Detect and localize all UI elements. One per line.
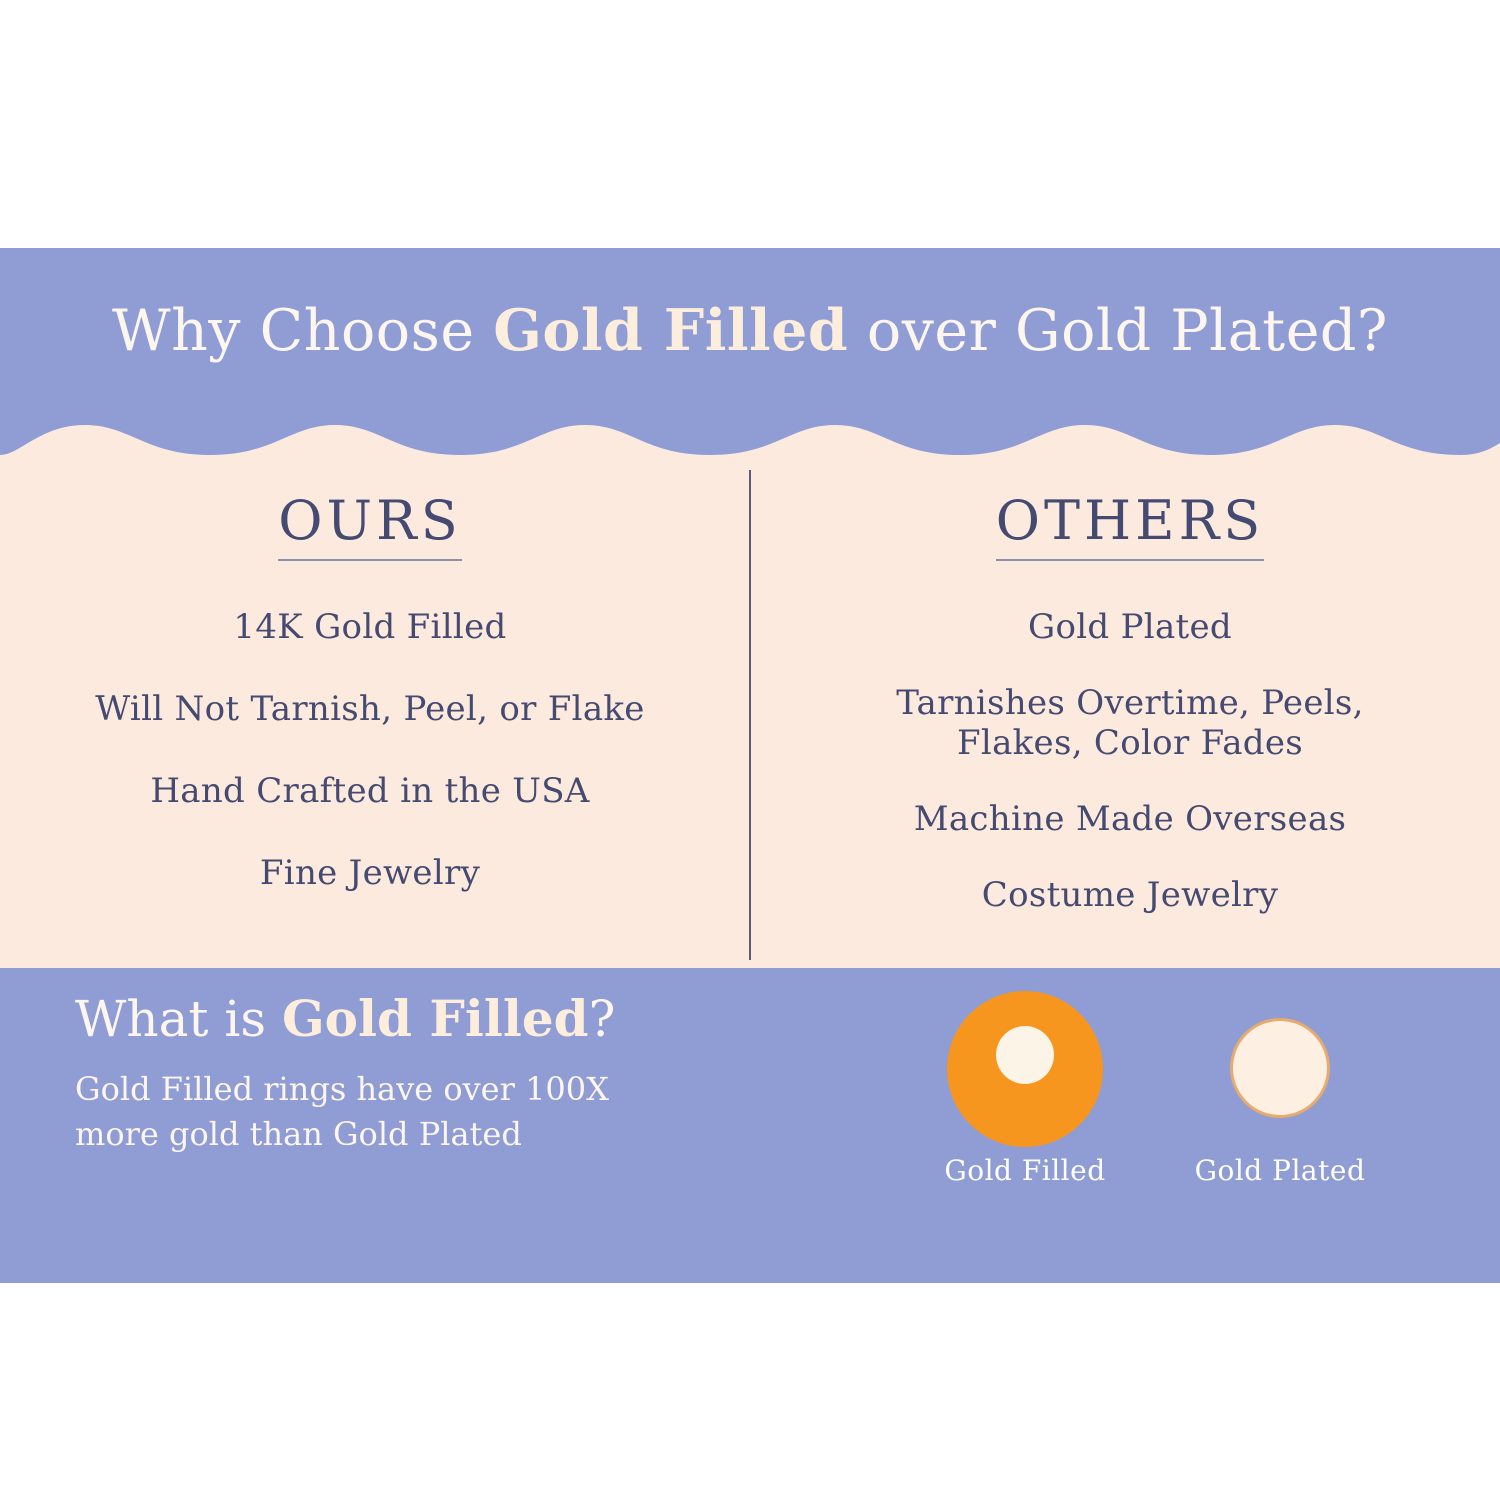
footer-band: What is Gold Filled? Gold Filled rings h… xyxy=(0,968,1500,1283)
ours-feature-list: 14K Gold Filled Will Not Tarnish, Peel, … xyxy=(0,607,740,893)
page-root: Why Choose Gold Filled over Gold Plated?… xyxy=(0,0,1500,1500)
footer-title-part2: ? xyxy=(589,990,616,1048)
gold-filled-ring-icon xyxy=(947,991,1103,1147)
gold-filled-core-icon xyxy=(996,1026,1054,1084)
page-title-part1: Why Choose xyxy=(112,298,493,364)
list-item: Gold Plated xyxy=(760,607,1500,647)
list-item: Hand Crafted in the USA xyxy=(0,771,740,811)
footer-title-accent: Gold Filled xyxy=(282,989,589,1048)
page-title: Why Choose Gold Filled over Gold Plated? xyxy=(0,300,1500,363)
footer-subtitle: Gold Filled rings have over 100X more go… xyxy=(75,1067,695,1158)
gold-filled-label: Gold Filled xyxy=(920,1154,1130,1187)
gold-plated-ring-icon xyxy=(1230,1018,1330,1118)
thickness-diagram: Gold Filled Gold Plated xyxy=(880,978,1440,1228)
others-feature-list: Gold Plated Tarnishes Overtime, Peels, F… xyxy=(760,607,1500,916)
list-item: Costume Jewelry xyxy=(760,875,1500,915)
gold-plated-graphic xyxy=(1175,978,1385,1148)
footer-text-block: What is Gold Filled? Gold Filled rings h… xyxy=(75,990,815,1157)
page-title-accent: Gold Filled xyxy=(493,297,848,364)
column-heading-ours: OURS xyxy=(278,489,461,561)
column-divider xyxy=(749,470,751,960)
footer-title: What is Gold Filled? xyxy=(75,990,815,1049)
list-item: Will Not Tarnish, Peel, or Flake xyxy=(0,689,740,729)
gold-filled-graphic xyxy=(920,978,1130,1148)
gold-filled-diagram: Gold Filled xyxy=(920,978,1130,1187)
list-item: 14K Gold Filled xyxy=(0,607,740,647)
footer-title-part1: What is xyxy=(75,990,282,1048)
gold-plated-diagram: Gold Plated xyxy=(1175,978,1385,1187)
column-others: OTHERS Gold Plated Tarnishes Overtime, P… xyxy=(760,463,1500,916)
infographic-card: Why Choose Gold Filled over Gold Plated?… xyxy=(0,248,1500,1283)
column-heading-others: OTHERS xyxy=(996,489,1264,561)
list-item: Tarnishes Overtime, Peels, Flakes, Color… xyxy=(850,683,1410,763)
gold-plated-label: Gold Plated xyxy=(1175,1154,1385,1187)
page-title-part2: over Gold Plated? xyxy=(848,298,1388,364)
column-ours: OURS 14K Gold Filled Will Not Tarnish, P… xyxy=(0,463,740,893)
list-item: Fine Jewelry xyxy=(0,853,740,893)
list-item: Machine Made Overseas xyxy=(760,799,1500,839)
